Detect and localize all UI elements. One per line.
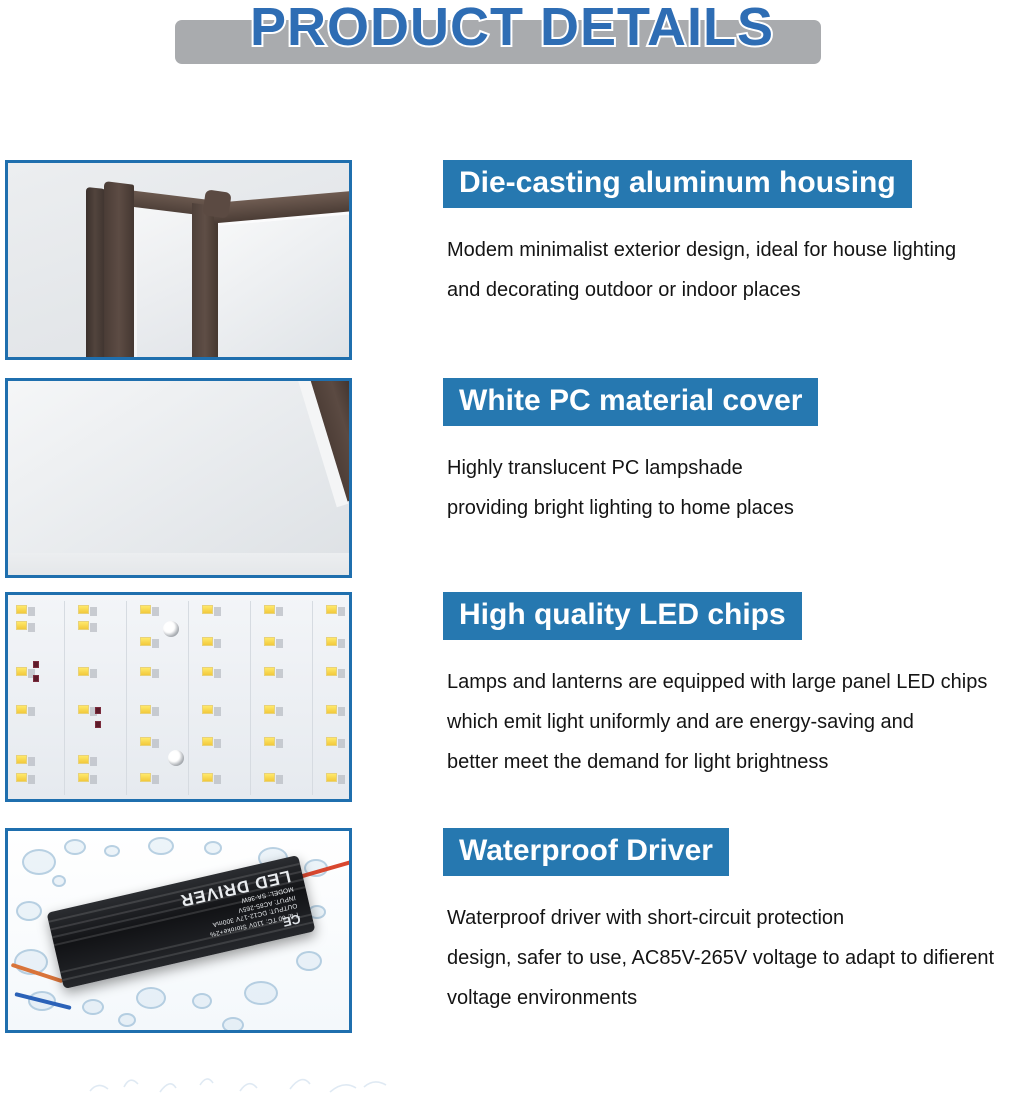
led-chip — [202, 737, 213, 746]
feature-badge-3: High quality LED chips — [443, 592, 802, 640]
led-chip — [16, 773, 27, 782]
led-chip — [78, 773, 89, 782]
led-chip — [140, 667, 151, 676]
led-chip — [326, 773, 337, 782]
body-line: Lamps and lanterns are equipped with lar… — [443, 662, 1018, 702]
water-droplet — [64, 839, 86, 855]
pcb-trace — [312, 601, 313, 795]
led-chip — [78, 621, 89, 630]
mounting-hole — [163, 621, 179, 637]
body-line: voltage environments — [443, 978, 1018, 1018]
water-droplet — [222, 1017, 244, 1033]
led-chip — [78, 605, 89, 614]
pcb-resistor — [33, 661, 39, 668]
diffuser-panel-right — [218, 210, 352, 360]
led-chip — [140, 737, 151, 746]
feature-content-3: High quality LED chips Lamps and lantern… — [443, 592, 1018, 782]
feature-body-2: Highly translucent PC lampshade providin… — [443, 448, 1018, 528]
led-chip — [264, 637, 275, 646]
diffuser-panel-left — [134, 207, 192, 360]
led-chip — [78, 667, 89, 676]
water-droplet — [192, 993, 212, 1009]
mounting-hole — [168, 750, 184, 766]
feature-badge-2: White PC material cover — [443, 378, 818, 426]
pcb-trace — [250, 601, 251, 795]
feature-row-3: High quality LED chips Lamps and lantern… — [0, 592, 1024, 802]
product-details-infographic: PRODUCT DETAILS Die-casting aluminum hou… — [0, 0, 1024, 1096]
led-chip — [16, 605, 27, 614]
pcb-trace — [64, 601, 65, 795]
feature-row-4: T a: 60 TC: 110V Storoke+2% OUTPUT: DC12… — [0, 828, 1024, 1033]
led-chip — [264, 605, 275, 614]
led-chip — [326, 705, 337, 714]
led-chip — [140, 605, 151, 614]
led-chip — [78, 705, 89, 714]
feature-content-1: Die-casting aluminum housing Modem minim… — [443, 160, 1018, 310]
feature-body-4: Waterproof driver with short-circuit pro… — [443, 898, 1018, 1018]
led-chip — [202, 773, 213, 782]
body-line: Waterproof driver with short-circuit pro… — [443, 898, 1018, 938]
feature-row-2: White PC material cover Highly transluce… — [0, 378, 1024, 578]
water-droplet — [136, 987, 166, 1009]
led-chip — [16, 705, 27, 714]
led-chip — [202, 667, 213, 676]
waterproof-led-driver-photo: T a: 60 TC: 110V Storoke+2% OUTPUT: DC12… — [5, 828, 352, 1033]
page-title: PRODUCT DETAILS — [0, 0, 1024, 58]
water-droplet — [104, 845, 120, 857]
led-chip — [16, 667, 27, 676]
bottom-water-splash-remnant — [80, 1065, 400, 1095]
splash-svg — [80, 1065, 400, 1095]
water-droplet — [82, 999, 104, 1015]
feature-content-4: Waterproof Driver Waterproof driver with… — [443, 828, 1018, 1018]
led-chip — [326, 737, 337, 746]
water-droplet — [52, 875, 66, 887]
pcb-trace — [126, 601, 127, 795]
led-chip — [16, 755, 27, 764]
frame-left-edge — [104, 181, 134, 360]
water-droplet — [16, 901, 42, 921]
body-line: and decorating outdoor or indoor places — [443, 270, 1018, 310]
body-line: which emit light uniformly and are energ… — [443, 702, 1018, 742]
water-droplet — [244, 981, 278, 1005]
led-chip — [202, 637, 213, 646]
led-chip — [264, 773, 275, 782]
led-chip — [264, 737, 275, 746]
frame-center-edge — [192, 203, 218, 360]
photo-bottom-gradient — [8, 553, 349, 578]
led-chip — [78, 755, 89, 764]
body-line: Highly translucent PC lampshade — [443, 448, 1018, 488]
pcb-trace — [188, 601, 189, 795]
header: PRODUCT DETAILS — [0, 0, 1024, 90]
ce-mark-icon: CE — [281, 911, 302, 930]
die-cast-aluminum-housing-corner-photo — [5, 160, 352, 360]
white-pc-cover-photo — [5, 378, 352, 578]
water-droplet — [118, 1013, 136, 1027]
pcb-resistor — [95, 721, 101, 728]
led-chip — [140, 637, 151, 646]
led-chip — [202, 605, 213, 614]
led-chip — [140, 773, 151, 782]
led-chip — [16, 621, 27, 630]
pc-lampshade-surface — [5, 378, 352, 578]
pcb-resistor — [33, 675, 39, 682]
led-chip — [326, 667, 337, 676]
feature-row-1: Die-casting aluminum housing Modem minim… — [0, 160, 1024, 360]
led-chip — [264, 705, 275, 714]
body-line: Modem minimalist exterior design, ideal … — [443, 230, 1018, 270]
feature-body-1: Modem minimalist exterior design, ideal … — [443, 230, 1018, 310]
feature-content-2: White PC material cover Highly transluce… — [443, 378, 1018, 528]
led-chip — [140, 705, 151, 714]
water-droplet — [148, 837, 174, 855]
water-droplet — [204, 841, 222, 855]
led-chip — [202, 705, 213, 714]
feature-badge-1: Die-casting aluminum housing — [443, 160, 912, 208]
body-line: design, safer to use, AC85V-265V voltage… — [443, 938, 1018, 978]
water-droplet — [22, 849, 56, 875]
body-line: better meet the demand for light brightn… — [443, 742, 1018, 782]
frame-back-edge — [86, 187, 106, 360]
led-chip — [326, 605, 337, 614]
led-chip — [264, 667, 275, 676]
led-chip-board-photo — [5, 592, 352, 802]
feature-badge-4: Waterproof Driver — [443, 828, 729, 876]
led-chip — [326, 637, 337, 646]
body-line: providing bright lighting to home places — [443, 488, 1018, 528]
frame-corner-joint — [202, 189, 231, 218]
water-droplet — [296, 951, 322, 971]
pcb-resistor — [95, 707, 101, 714]
feature-body-3: Lamps and lanterns are equipped with lar… — [443, 662, 1018, 782]
